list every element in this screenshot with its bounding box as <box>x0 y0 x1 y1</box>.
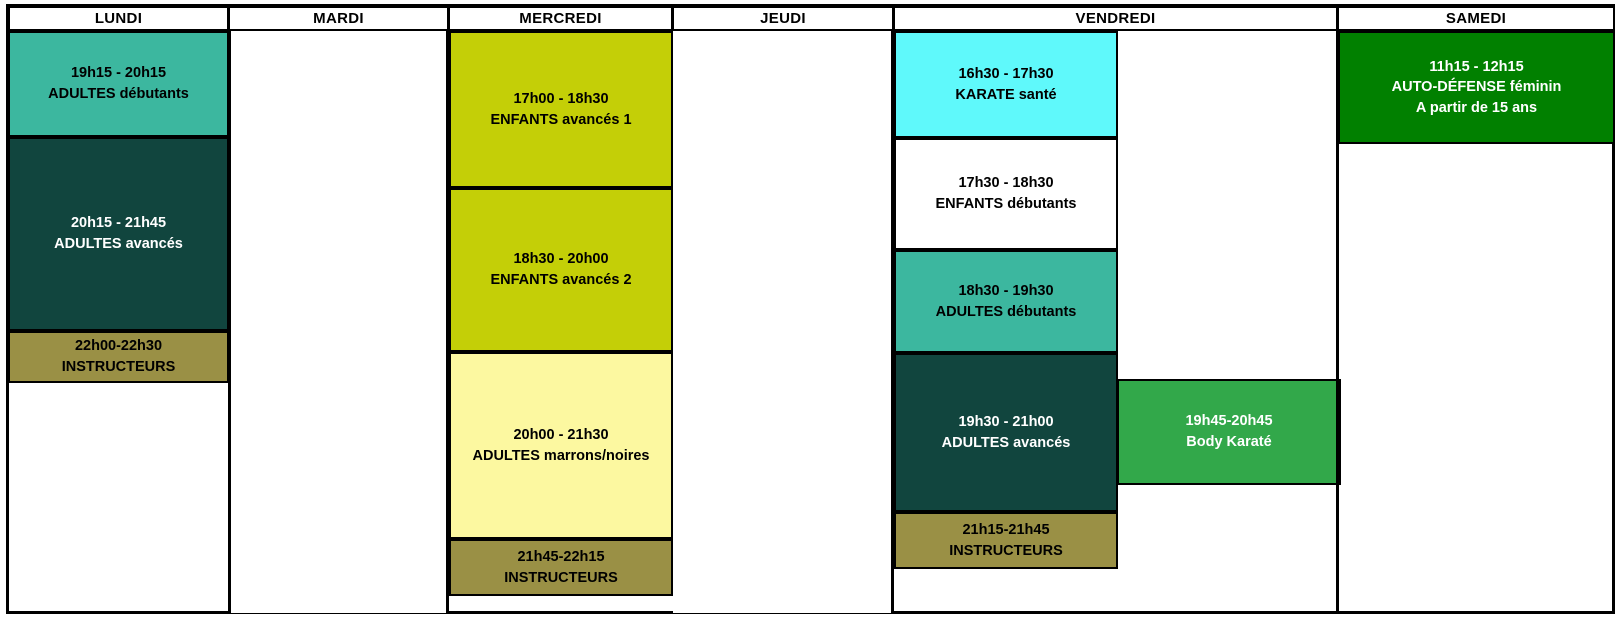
day-header-label: SAMEDI <box>1446 10 1506 27</box>
session-time: 18h30 - 19h30 <box>958 281 1053 302</box>
column-divider-mardi-left <box>228 31 231 613</box>
session-time: 19h30 - 21h00 <box>958 412 1053 433</box>
session-block[interactable]: 17h00 - 18h30 ENFANTS avancés 1 <box>449 31 673 188</box>
session-time: 11h15 - 12h15 <box>1429 57 1523 78</box>
schedule-table: LUNDI MARDI MERCREDI JEUDI VENDREDI SAME… <box>0 0 1622 622</box>
session-block[interactable]: 21h45-22h15 INSTRUCTEURS <box>449 539 673 596</box>
day-header-mardi: MARDI <box>228 6 449 31</box>
session-block[interactable]: 16h30 - 17h30 KARATE santé <box>894 31 1118 138</box>
day-header-jeudi: JEUDI <box>672 6 894 31</box>
session-block[interactable]: 20h15 - 21h45 ADULTES avancés <box>8 137 229 331</box>
session-time: 20h15 - 21h45 <box>71 213 166 234</box>
session-block[interactable]: 19h15 - 20h15 ADULTES débutants <box>8 31 229 137</box>
session-block[interactable]: 18h30 - 19h30 ADULTES débutants <box>894 250 1118 353</box>
day-header-label: JEUDI <box>760 10 806 27</box>
session-time: 18h30 - 20h00 <box>513 249 608 270</box>
session-name: Body Karaté <box>1186 432 1271 453</box>
session-name: ENFANTS débutants <box>936 194 1077 215</box>
day-header-mercredi: MERCREDI <box>448 6 673 31</box>
session-time: 17h30 - 18h30 <box>958 173 1053 194</box>
session-note: A partir de 15 ans <box>1416 98 1537 119</box>
mardi-empty-column <box>228 31 449 613</box>
session-time: 20h00 - 21h30 <box>513 425 608 446</box>
session-block[interactable]: 19h30 - 21h00 ADULTES avancés <box>894 353 1118 512</box>
session-time: 21h45-22h15 <box>517 547 604 568</box>
day-header-label: MARDI <box>313 10 364 27</box>
session-name: INSTRUCTEURS <box>949 541 1063 562</box>
session-block[interactable]: 18h30 - 20h00 ENFANTS avancés 2 <box>449 188 673 352</box>
session-name: ADULTES marrons/noires <box>473 446 650 467</box>
session-time: 16h30 - 17h30 <box>958 64 1053 85</box>
day-header-lundi: LUNDI <box>8 6 229 31</box>
session-name: ADULTES avancés <box>54 234 183 255</box>
session-name: ADULTES débutants <box>48 84 189 105</box>
session-block[interactable]: 22h00-22h30 INSTRUCTEURS <box>8 331 229 383</box>
day-header-label: LUNDI <box>95 10 142 27</box>
day-header-label: VENDREDI <box>1076 10 1156 27</box>
session-name: AUTO-DÉFENSE féminin <box>1392 77 1562 98</box>
day-header-samedi: SAMEDI <box>1337 6 1615 31</box>
session-name: INSTRUCTEURS <box>62 357 176 378</box>
session-block[interactable]: 21h15-21h45 INSTRUCTEURS <box>894 512 1118 569</box>
session-block[interactable]: 19h45-20h45 Body Karaté <box>1117 379 1341 485</box>
session-time: 17h00 - 18h30 <box>513 89 608 110</box>
session-name: ADULTES avancés <box>942 433 1071 454</box>
session-time: 19h45-20h45 <box>1185 411 1272 432</box>
day-header-label: MERCREDI <box>519 10 601 27</box>
session-name: ENFANTS avancés 1 <box>490 110 631 131</box>
day-header-vendredi: VENDREDI <box>893 6 1338 31</box>
session-block[interactable]: 20h00 - 21h30 ADULTES marrons/noires <box>449 352 673 539</box>
session-name: ENFANTS avancés 2 <box>490 270 631 291</box>
session-time: 19h15 - 20h15 <box>71 63 166 84</box>
jeudi-empty-column <box>673 31 894 613</box>
session-time: 21h15-21h45 <box>962 520 1049 541</box>
session-block[interactable]: 17h30 - 18h30 ENFANTS débutants <box>894 138 1118 250</box>
session-name: ADULTES débutants <box>936 302 1077 323</box>
session-name: INSTRUCTEURS <box>504 568 618 589</box>
session-name: KARATE santé <box>955 85 1056 106</box>
session-time: 22h00-22h30 <box>75 336 162 357</box>
session-block[interactable]: 11h15 - 12h15 AUTO-DÉFENSE féminin A par… <box>1338 31 1615 144</box>
